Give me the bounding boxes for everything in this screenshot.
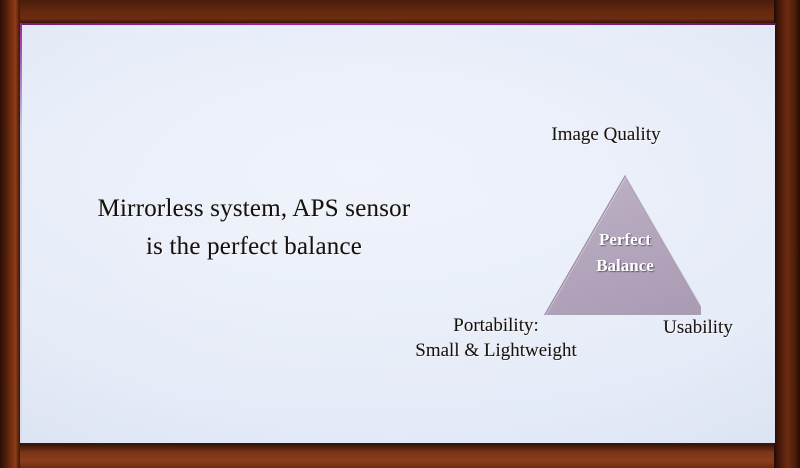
- triangle-center-label: Perfect Balance: [541, 227, 709, 279]
- frame-top-edge: [0, 0, 800, 24]
- screen-fringe-top: [20, 23, 776, 25]
- vertex-label-portability: Portability: Small & Lightweight: [371, 313, 621, 363]
- vertex-label-image-quality: Image Quality: [461, 122, 751, 147]
- frame-bottom-edge: [0, 444, 800, 468]
- vertex-label-usability: Usability: [621, 315, 775, 340]
- screen-fringe-left: [20, 23, 22, 443]
- frame-right-edge: [774, 0, 800, 468]
- portability-line-1: Portability:: [371, 313, 621, 338]
- portability-line-2: Small & Lightweight: [371, 338, 621, 363]
- balance-triangle-diagram: Perfect Balance Image Quality Usability …: [21, 25, 775, 443]
- center-label-line-1: Perfect: [541, 227, 709, 253]
- projected-slide: Mirrorless system, APS sensor is the per…: [21, 25, 775, 443]
- projector-photo-frame: Mirrorless system, APS sensor is the per…: [0, 0, 800, 468]
- center-label-line-2: Balance: [541, 253, 709, 279]
- frame-left-edge: [0, 0, 20, 468]
